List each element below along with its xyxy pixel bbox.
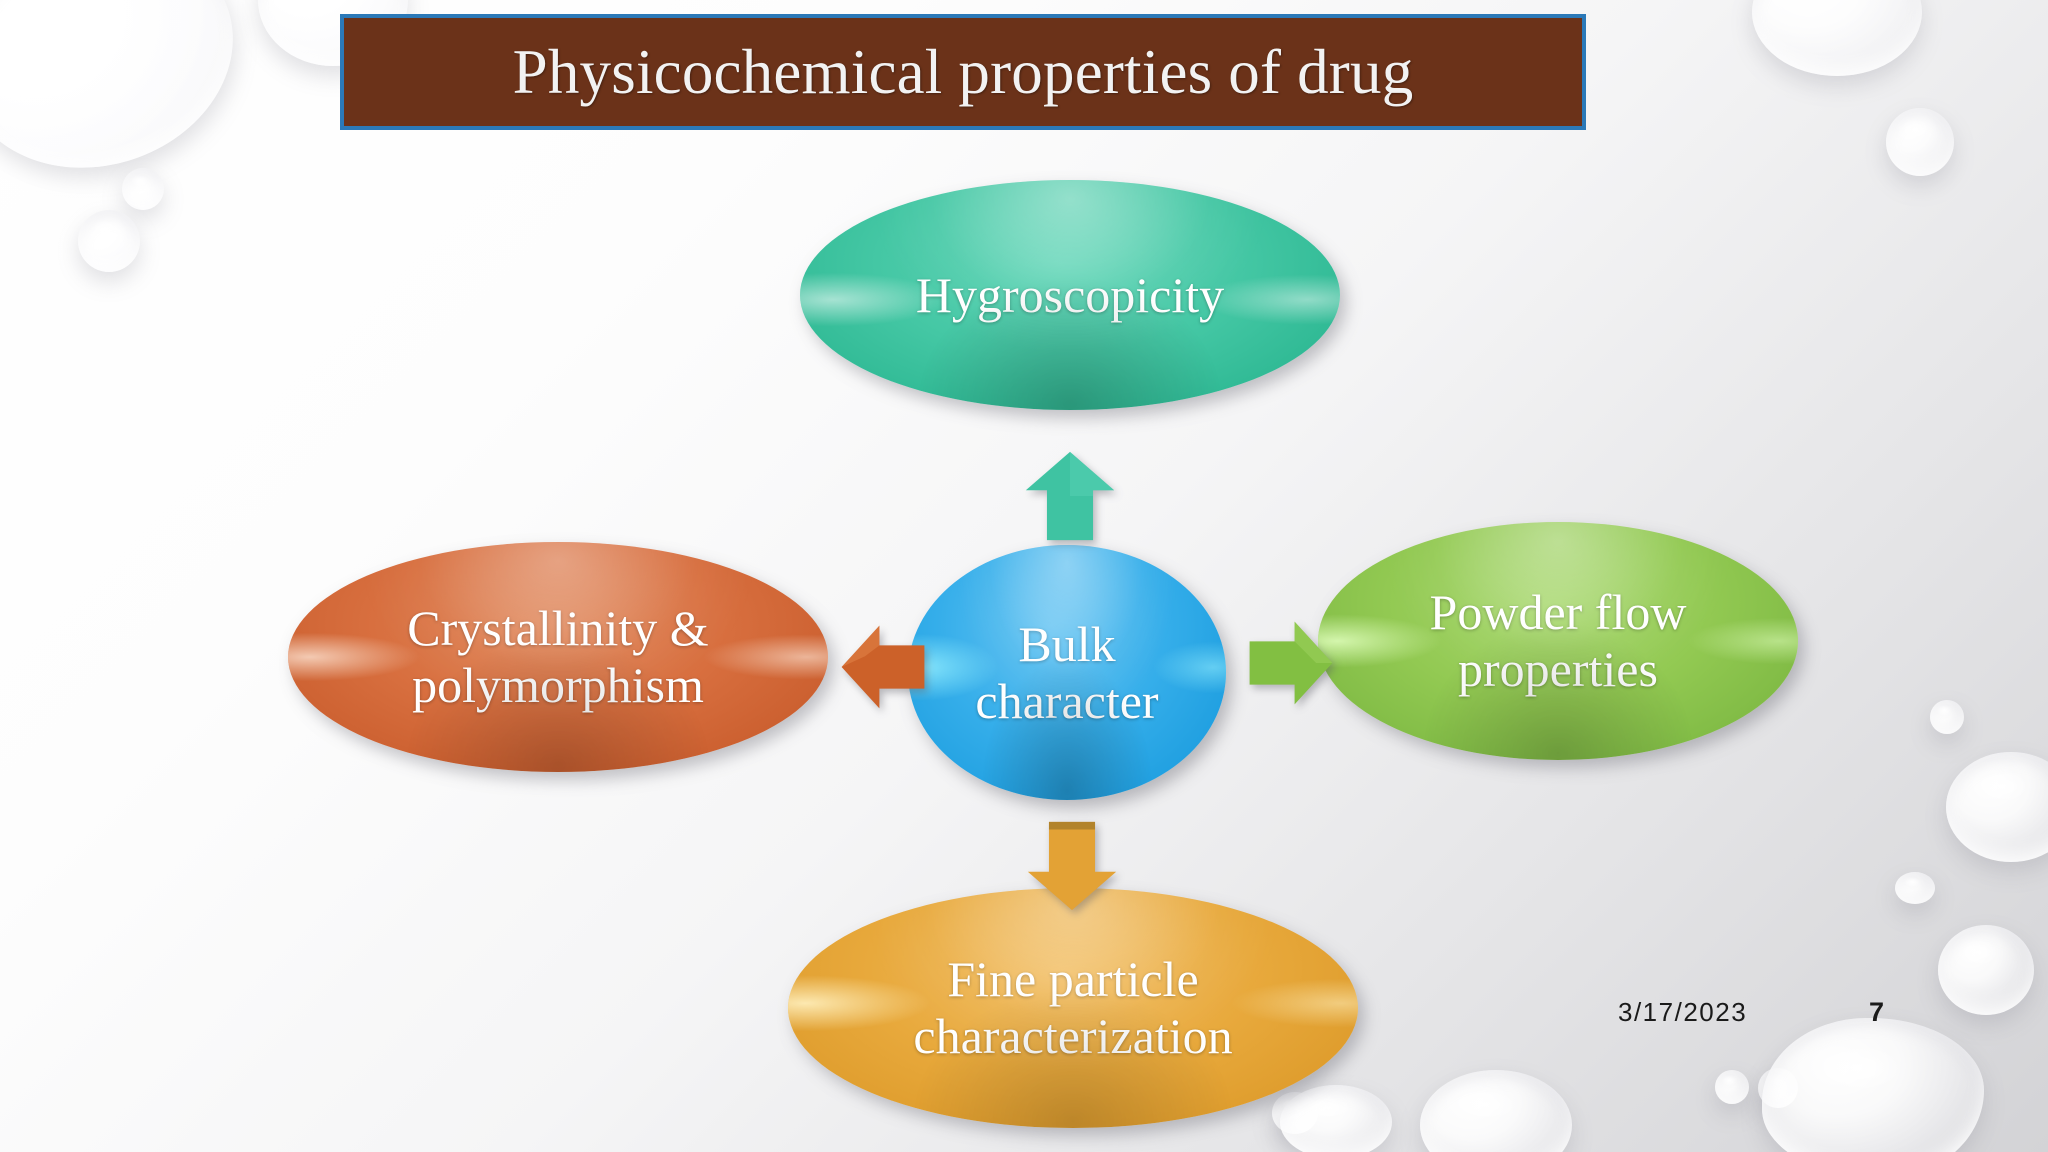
water-droplet-icon	[1280, 1085, 1392, 1152]
water-droplet-icon	[1930, 700, 1964, 734]
arrow-left-icon	[838, 622, 928, 712]
slide-title-box: Physicochemical properties of drug	[340, 14, 1586, 130]
water-droplet-icon	[0, 0, 263, 202]
water-droplet-icon	[1946, 752, 2048, 862]
water-droplet-icon	[78, 210, 140, 272]
water-droplet-icon	[1895, 872, 1935, 904]
diagram-node-fine-particle-characterization[interactable]: Fine particle characterization	[788, 888, 1358, 1128]
diagram-node-hygroscopicity[interactable]: Hygroscopicity	[800, 180, 1340, 410]
diagram-node-label: Hygroscopicity	[916, 267, 1224, 324]
water-droplet-icon	[1715, 1070, 1749, 1104]
water-droplet-icon	[1272, 1092, 1318, 1134]
footer-slide-number: 7	[1869, 997, 1884, 1028]
page-title: Physicochemical properties of drug	[513, 41, 1414, 104]
arrow-down-icon	[1024, 818, 1120, 914]
arrow-up-icon	[1022, 448, 1118, 544]
diagram-node-label: Bulk character	[942, 616, 1192, 730]
diagram-node-bulk-character[interactable]: Bulk character	[908, 545, 1226, 800]
water-droplet-icon	[122, 168, 164, 210]
water-droplet-icon	[1758, 1068, 1798, 1108]
diagram-node-label: Fine particle characterization	[822, 951, 1324, 1065]
water-droplet-icon	[1752, 0, 1922, 76]
water-droplet-icon	[1938, 925, 2034, 1015]
diagram-node-label: Crystallinity & polymorphism	[322, 600, 794, 714]
arrow-right-icon	[1246, 618, 1336, 708]
diagram-node-label: Powder flow properties	[1352, 584, 1764, 698]
water-droplet-icon	[1762, 1018, 1984, 1152]
water-droplet-icon	[1886, 108, 1954, 176]
diagram-node-crystallinity-polymorphism[interactable]: Crystallinity & polymorphism	[288, 542, 828, 772]
footer-date: 3/17/2023	[1618, 997, 1747, 1028]
slide-canvas: Physicochemical properties of drug Hygro…	[0, 0, 2048, 1152]
diagram-node-powder-flow-properties[interactable]: Powder flow properties	[1318, 522, 1798, 760]
water-droplet-icon	[1420, 1070, 1572, 1152]
